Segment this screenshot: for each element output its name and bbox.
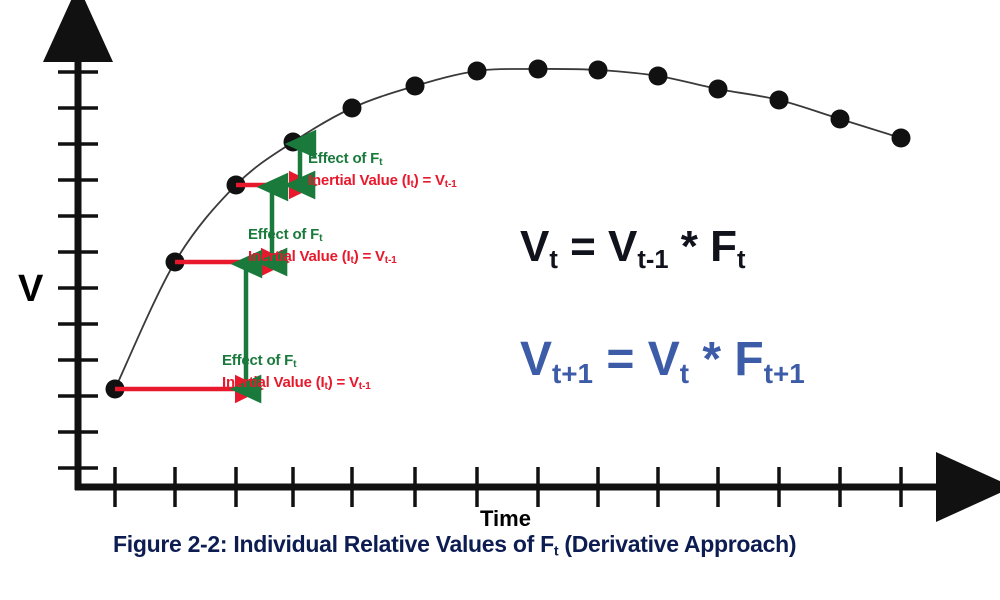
eq1-p5: t — [737, 246, 746, 274]
effect-text-2: Effect of F — [248, 226, 319, 243]
effect-sub-1: t — [293, 359, 296, 370]
x-axis-label: Time — [480, 506, 531, 532]
x-axis — [75, 467, 950, 507]
data-point-6 — [406, 77, 425, 96]
inertial-sub2-2: t-1 — [385, 255, 397, 266]
data-point-12 — [770, 91, 789, 110]
equation-secondary: Vt+1 = Vt * Ft+1 — [520, 332, 805, 390]
caption-prefix: Figure 2-2: Individual Relative Values o… — [113, 531, 554, 557]
effect-text-3: Effect of F — [308, 150, 379, 167]
eq1-p0: V — [520, 222, 549, 271]
eq1-p4: * F — [669, 222, 737, 271]
annotation-effect-label-2: Effect of Ft — [248, 226, 322, 244]
inertial-sub2-1: t-1 — [359, 381, 371, 392]
y-axis-label: V — [18, 268, 43, 311]
figure-container: V Time Effect of Ft Inertial Value (It) … — [0, 0, 1000, 600]
figure-caption: Figure 2-2: Individual Relative Values o… — [113, 531, 796, 560]
equation-primary: Vt = Vt-1 * Ft — [520, 222, 746, 275]
data-point-14 — [892, 129, 911, 148]
annotation-inertial-label-2: Inertial Value (It) = Vt-1 — [248, 248, 397, 266]
y-axis — [58, 48, 98, 490]
eq1-p3: t-1 — [637, 246, 668, 274]
eq2-p0: V — [520, 333, 552, 386]
inertial-text-1: Inertial Value (I — [222, 374, 324, 391]
eq2-p3: t — [680, 358, 689, 389]
caption-suffix: (Derivative Approach) — [558, 531, 796, 557]
annotation-inertial-label-1: Inertial Value (It) = Vt-1 — [222, 374, 371, 392]
inertial-text-3: Inertial Value (I — [308, 172, 410, 189]
data-point-9 — [589, 61, 608, 80]
effect-sub-3: t — [379, 157, 382, 168]
eq2-p1: t+1 — [552, 358, 593, 389]
data-point-11 — [709, 80, 728, 99]
eq1-p2: = V — [558, 222, 638, 271]
inertial-mid-1: ) = V — [328, 374, 359, 391]
inertial-sub2-3: t-1 — [445, 179, 457, 190]
eq2-p4: * F — [689, 333, 764, 386]
data-point-10 — [649, 67, 668, 86]
eq2-p5: t+1 — [764, 358, 805, 389]
effect-sub-2: t — [319, 233, 322, 244]
annotation-effect-label-3: Effect of Ft — [308, 150, 382, 168]
data-point-8 — [529, 60, 548, 79]
annotation-inertial-label-3: Inertial Value (It) = Vt-1 — [308, 172, 457, 190]
data-point-13 — [831, 110, 850, 129]
data-point-7 — [468, 62, 487, 81]
inertial-text-2: Inertial Value (I — [248, 248, 350, 265]
data-point-5 — [343, 99, 362, 118]
inertial-mid-3: ) = V — [414, 172, 445, 189]
annotation-effect-label-1: Effect of Ft — [222, 352, 296, 370]
eq2-p2: = V — [593, 333, 680, 386]
inertial-mid-2: ) = V — [354, 248, 385, 265]
effect-text-1: Effect of F — [222, 352, 293, 369]
eq1-p1: t — [549, 246, 558, 274]
